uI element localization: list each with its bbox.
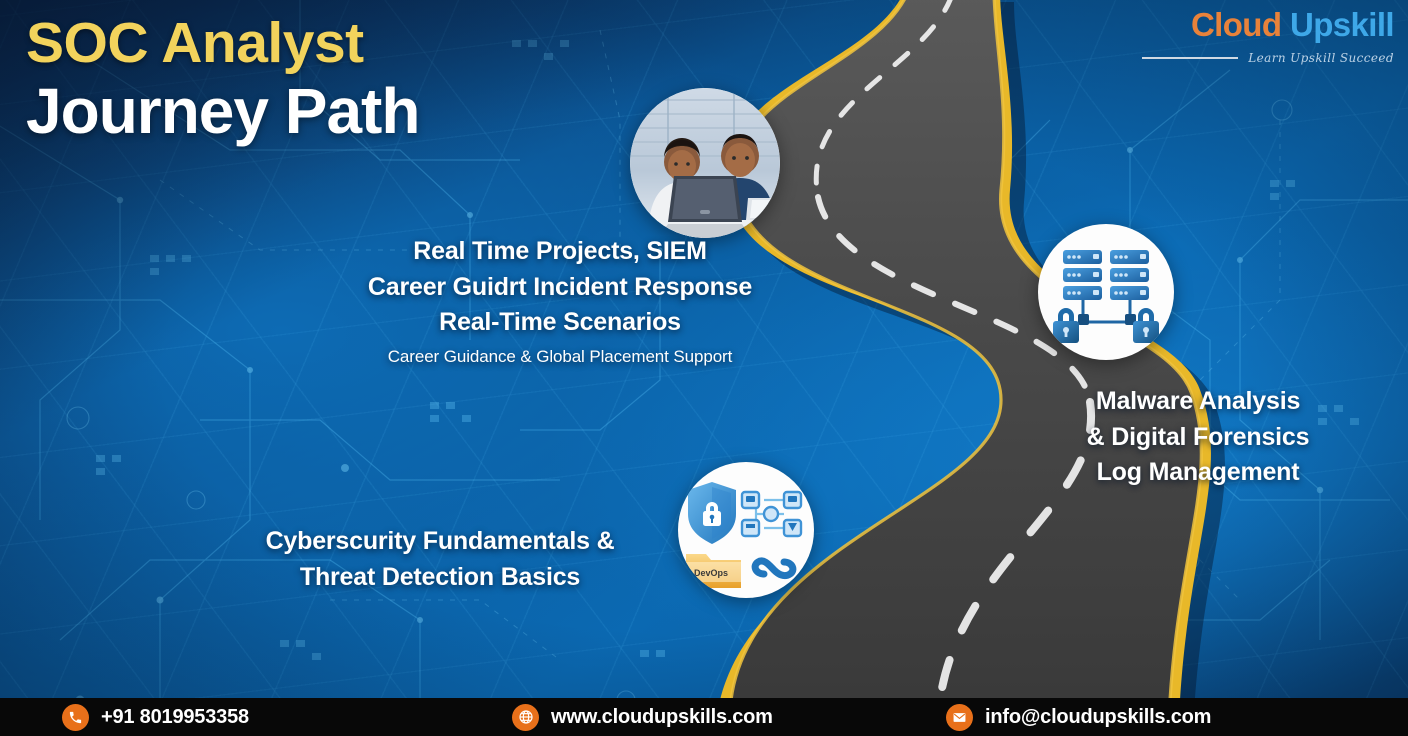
logo-divider-line	[1142, 57, 1238, 59]
text-block-center: Real Time Projects, SIEM Career Guidrt I…	[300, 234, 820, 368]
page-title: SOC Analyst Journey Path	[26, 14, 419, 145]
footer-phone-text: +91 8019953358	[101, 706, 249, 729]
text-block-left: Cyberscurity Fundamentals & Threat Detec…	[210, 524, 670, 595]
text-block-right: Malware Analysis & Digital Forensics Log…	[1028, 384, 1368, 491]
mail-icon	[946, 704, 973, 731]
server-lock-icon	[1038, 224, 1174, 360]
folder-label: DevOps	[694, 568, 728, 578]
poster-canvas: SOC Analyst Journey Path Cloud Upskill L…	[0, 0, 1408, 736]
badge-security-tools: DevOps	[678, 462, 814, 598]
center-subline: Career Guidance & Global Placement Suppo…	[300, 345, 820, 369]
team-photo	[630, 88, 780, 238]
phone-icon	[62, 704, 89, 731]
security-tools-icon: DevOps	[678, 462, 814, 598]
footer-phone-item[interactable]: +91 8019953358	[62, 704, 249, 731]
logo-wordmark: Cloud Upskill	[1142, 8, 1394, 41]
brand-logo: Cloud Upskill Learn Upskill Succeed	[1142, 8, 1394, 65]
badge-team-photo	[630, 88, 780, 238]
right-line1: Malware Analysis	[1028, 384, 1368, 420]
center-line2: Career Guidrt Incident Response	[300, 270, 820, 306]
center-line1: Real Time Projects, SIEM	[300, 234, 820, 270]
logo-word-cloud: Cloud	[1191, 6, 1290, 43]
logo-word-upskill: Upskill	[1290, 6, 1394, 43]
devops-infinity-icon	[755, 561, 793, 576]
footer-website-item[interactable]: www.cloudupskills.com	[512, 704, 773, 731]
footer-email-text: info@cloudupskills.com	[985, 706, 1211, 729]
headline-line2: Journey Path	[26, 78, 419, 145]
badge-server-security	[1038, 224, 1174, 360]
shield-lock-icon	[688, 482, 736, 544]
logo-tagline-row: Learn Upskill Succeed	[1142, 51, 1394, 65]
right-line3: Log Management	[1028, 455, 1368, 491]
center-line3: Real-Time Scenarios	[300, 305, 820, 341]
footer-website-text: www.cloudupskills.com	[551, 706, 773, 729]
globe-icon	[512, 704, 539, 731]
contact-footer-bar: +91 8019953358 www.cloudupskills.com	[0, 698, 1408, 736]
right-line2: & Digital Forensics	[1028, 420, 1368, 456]
headline-line1: SOC Analyst	[26, 14, 419, 72]
left-line2: Threat Detection Basics	[210, 560, 670, 596]
footer-email-item[interactable]: info@cloudupskills.com	[946, 704, 1211, 731]
logo-tagline: Learn Upskill Succeed	[1248, 51, 1394, 65]
left-line1: Cyberscurity Fundamentals &	[210, 524, 670, 560]
